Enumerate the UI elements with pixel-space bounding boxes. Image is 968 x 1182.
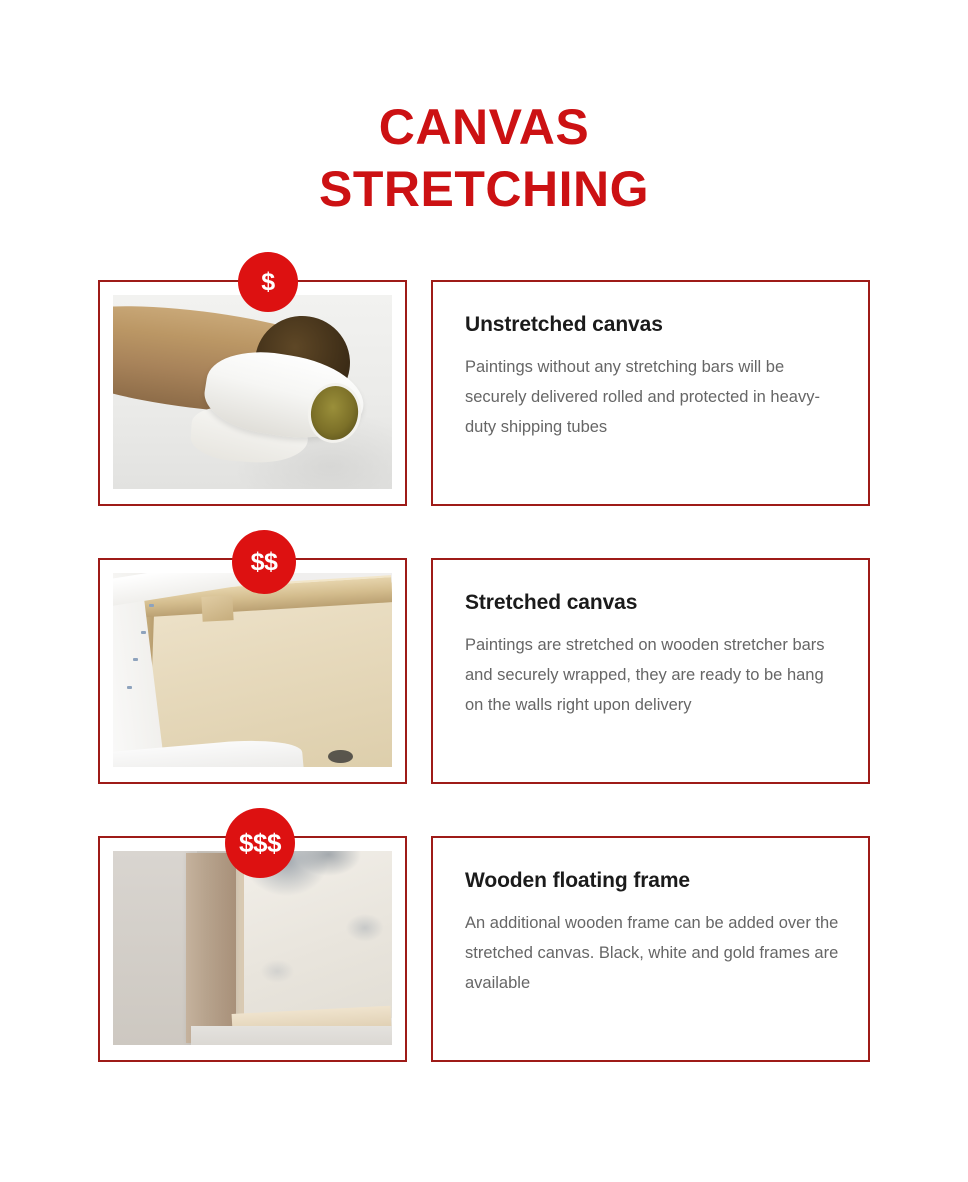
photo-floating-frame <box>113 851 392 1045</box>
page-title-line-2: STRETCHING <box>0 158 968 220</box>
text-card-unstretched-canvas: Unstretched canvas Paintings without any… <box>431 280 870 506</box>
image-card-unstretched-canvas[interactable] <box>98 280 407 506</box>
card-heading-2: Stretched canvas <box>465 590 842 616</box>
card-heading-3: Wooden floating frame <box>465 868 842 894</box>
wall-background-shape <box>113 851 197 1045</box>
option-row-wooden-floating-frame: $$$ Wooden floating frame An additional … <box>0 836 968 1062</box>
price-badge-1: $ <box>238 252 298 312</box>
option-row-stretched-canvas: $$ Stretched canvas Paintings are stretc… <box>0 558 968 784</box>
staple-shape <box>141 631 146 634</box>
staple-shape <box>127 686 132 689</box>
text-card-stretched-canvas: Stretched canvas Paintings are stretched… <box>431 558 870 784</box>
floor-shadow-shape <box>191 1026 392 1045</box>
card-heading-1: Unstretched canvas <box>465 312 842 338</box>
card-body-3: An additional wooden frame can be added … <box>465 908 842 998</box>
text-card-wooden-floating-frame: Wooden floating frame An additional wood… <box>431 836 870 1062</box>
page-root: CANVAS STRETCHING $ Unstretched canvas P… <box>0 0 968 1182</box>
page-title-line-1: CANVAS <box>0 96 968 158</box>
price-badge-3: $$$ <box>225 808 295 878</box>
price-badge-2: $$ <box>232 530 296 594</box>
option-list: $ Unstretched canvas Paintings without a… <box>0 280 968 1114</box>
hardware-dot-shape <box>328 750 353 764</box>
page-title: CANVAS STRETCHING <box>0 96 968 220</box>
staple-shape <box>149 604 154 607</box>
stretcher-corner-block-shape <box>202 595 234 622</box>
frame-side-bar-shape <box>186 853 236 1043</box>
option-row-unstretched-canvas: $ Unstretched canvas Paintings without a… <box>0 280 968 506</box>
card-body-1: Paintings without any stretching bars wi… <box>465 352 842 442</box>
photo-shipping-tube <box>113 295 392 489</box>
staple-shape <box>133 658 138 661</box>
card-body-2: Paintings are stretched on wooden stretc… <box>465 630 842 720</box>
photo-stretcher-bars <box>113 573 392 767</box>
